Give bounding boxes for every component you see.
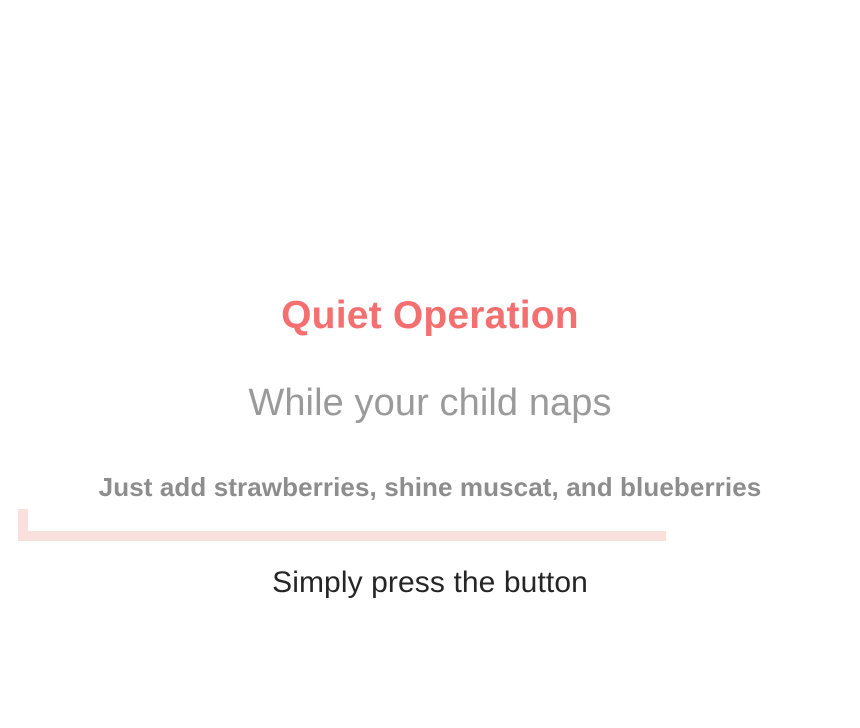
promo-cta-text: Simply press the button [0, 563, 860, 603]
promo-subheadline: While your child naps [0, 379, 860, 427]
promo-block: Quiet Operation While your child naps Ju… [0, 0, 860, 728]
promo-headline: Quiet Operation [0, 292, 860, 340]
promo-ingredients-text: Just add strawberries, shine muscat, and… [0, 470, 860, 504]
accent-rule-decoration [18, 509, 666, 541]
accent-rule-horizontal-bar [18, 531, 666, 541]
promo-screen: Quiet Operation While your child naps Ju… [0, 0, 860, 728]
